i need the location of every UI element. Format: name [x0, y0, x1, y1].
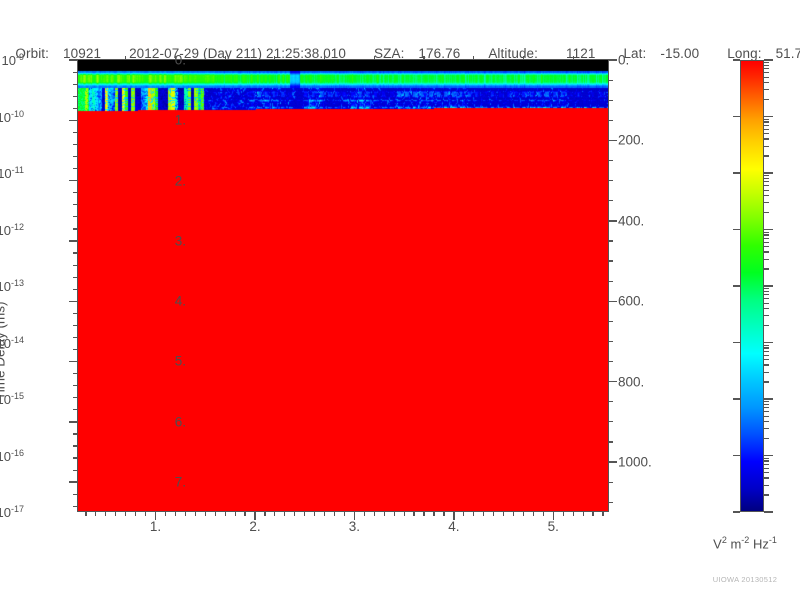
y-left-minor-tick	[73, 470, 78, 471]
x-minor-tick	[314, 511, 315, 516]
y-left-minor-tick	[73, 277, 78, 278]
x-top-minor-tick	[423, 56, 424, 60]
colorbar-major-tick-left	[733, 398, 740, 399]
colorbar-major-tick-left	[733, 172, 740, 173]
colorbar-major-tick-left	[733, 342, 740, 343]
x-minor-tick	[95, 511, 96, 516]
y-left-major-tick	[69, 59, 78, 60]
colorbar-major-tick	[764, 285, 773, 286]
y-left-minor-tick	[73, 265, 78, 266]
x-top-minor-tick	[274, 56, 275, 60]
x-minor-tick	[235, 511, 236, 516]
long-value: 51.77	[776, 46, 800, 61]
y-right-tick-label: 1000.	[618, 454, 652, 469]
x-minor-tick	[264, 511, 265, 516]
x-minor-tick	[225, 511, 226, 516]
colorbar-units-label: V2 m-2 Hz-1	[713, 535, 777, 551]
y-right-tick-label: 200.	[618, 133, 644, 148]
x-top-minor-tick	[324, 56, 325, 60]
datetime-value: 2012-07-29 (Day 211) 21:25:38.010	[129, 46, 346, 61]
colorbar-minor-tick	[764, 181, 769, 182]
colorbar-minor-tick	[764, 89, 769, 90]
sza-label: SZA:	[374, 46, 404, 61]
colorbar-tick-label: 10-12	[0, 221, 24, 237]
x-minor-tick	[483, 511, 484, 516]
colorbar-major-tick	[764, 342, 773, 343]
colorbar-minor-tick	[764, 416, 769, 417]
x-minor-tick	[344, 511, 345, 516]
y-left-minor-tick	[73, 409, 78, 410]
colorbar-minor-tick	[764, 308, 769, 309]
y-left-tick-label: 6.	[175, 414, 186, 429]
x-minor-tick	[563, 511, 564, 516]
colorbar-minor-tick	[764, 125, 769, 126]
colorbar-minor-tick	[764, 364, 769, 365]
y-left-minor-tick	[73, 337, 78, 338]
y-right-tick-label: 800.	[618, 374, 644, 389]
colorbar-minor-tick	[764, 472, 769, 473]
y-right-minor-tick	[608, 160, 613, 161]
colorbar-minor-tick	[764, 294, 769, 295]
y-right-minor-tick	[608, 401, 613, 402]
colorbar-tick-label: 10-10	[0, 108, 24, 124]
x-minor-tick	[115, 511, 116, 516]
colorbar-minor-tick	[764, 212, 769, 213]
spectrogram-plot-area	[78, 60, 608, 511]
colorbar-minor-tick	[764, 155, 769, 156]
colorbar-major-tick	[764, 116, 773, 117]
x-minor-tick	[374, 511, 375, 516]
colorbar-minor-tick	[764, 178, 769, 179]
x-top-minor-tick	[573, 56, 574, 60]
y-left-major-tick	[69, 421, 78, 422]
x-minor-tick	[175, 511, 176, 516]
y-left-tick-label: 2.	[175, 173, 186, 188]
x-minor-tick	[284, 511, 285, 516]
x-minor-tick	[334, 511, 335, 516]
y-right-minor-tick	[608, 100, 613, 101]
colorbar-minor-tick	[764, 238, 769, 239]
x-minor-tick	[244, 511, 245, 516]
y-right-minor-tick	[608, 321, 613, 322]
colorbar-minor-tick	[764, 421, 769, 422]
x-minor-tick	[443, 511, 444, 516]
x-top-minor-tick	[374, 56, 375, 60]
x-top-minor-tick	[523, 56, 524, 60]
colorbar-tick-label: 10-16	[0, 447, 24, 463]
colorbar-minor-tick	[764, 458, 769, 459]
colorbar-minor-tick	[764, 477, 769, 478]
colorbar-minor-tick	[764, 347, 769, 348]
y-left-minor-tick	[73, 397, 78, 398]
altitude-value: 1121	[566, 46, 595, 61]
y-left-minor-tick	[73, 373, 78, 374]
y-left-minor-tick	[73, 433, 78, 434]
lat-value: -15.00	[660, 46, 699, 61]
y-right-minor-tick	[608, 180, 613, 181]
x-tick-label: 3.	[349, 519, 360, 534]
x-minor-tick	[105, 511, 106, 516]
colorbar-major-tick-left	[733, 511, 740, 512]
y-left-minor-tick	[73, 204, 78, 205]
x-minor-tick	[85, 511, 86, 516]
units-m-exp: -2	[741, 535, 749, 545]
x-minor-tick	[543, 511, 544, 516]
y-left-tick-label: 4.	[175, 294, 186, 309]
y-left-minor-tick	[73, 457, 78, 458]
colorbar-minor-tick	[764, 411, 769, 412]
colorbar-major-tick-left	[733, 285, 740, 286]
y-left-tick-label: 7.	[175, 475, 186, 490]
colorbar-minor-tick	[764, 242, 769, 243]
colorbar-minor-tick	[764, 351, 769, 352]
altitude-label: Altitude:	[488, 46, 538, 61]
y-left-major-tick	[69, 481, 78, 482]
x-minor-tick	[394, 511, 395, 516]
x-axis-title: Frequency (MHz)	[0, 30, 400, 45]
x-minor-tick	[145, 511, 146, 516]
x-minor-tick	[503, 511, 504, 516]
y-right-minor-tick	[608, 502, 613, 503]
y-right-tick-label: 0.	[618, 53, 629, 68]
colorbar-minor-tick	[764, 232, 769, 233]
colorbar-minor-tick	[764, 68, 769, 69]
y-right-minor-tick	[608, 260, 613, 261]
colorbar-minor-tick	[764, 62, 769, 63]
x-tick-label: 1.	[150, 519, 161, 534]
x-minor-tick	[423, 511, 424, 516]
colorbar-tick-label: 10-13	[0, 278, 24, 294]
units-m: m	[730, 536, 741, 551]
colorbar-minor-tick	[764, 315, 769, 316]
colorbar-minor-tick	[764, 138, 769, 139]
y-right-minor-tick	[608, 421, 613, 422]
y-right-minor-tick	[608, 482, 613, 483]
x-minor-tick	[384, 511, 385, 516]
colorbar-minor-tick	[764, 428, 769, 429]
units-hz: Hz	[753, 536, 769, 551]
colorbar-minor-tick	[764, 494, 769, 495]
y-right-minor-tick	[608, 200, 613, 201]
ionogram-figure: Orbit:109212012-07-29 (Day 211) 21:25:38…	[0, 0, 800, 600]
y-left-minor-tick	[73, 108, 78, 109]
y-left-minor-tick	[73, 325, 78, 326]
y-left-minor-tick	[73, 156, 78, 157]
x-minor-tick	[404, 511, 405, 516]
x-minor-tick	[493, 511, 494, 516]
y-left-minor-tick	[73, 72, 78, 73]
y-right-minor-tick	[608, 80, 613, 81]
x-minor-tick	[364, 511, 365, 516]
x-minor-tick	[413, 511, 414, 516]
x-minor-tick	[463, 511, 464, 516]
y-left-tick-label: 5.	[175, 354, 186, 369]
x-minor-tick	[523, 511, 524, 516]
y-right-major-tick	[608, 59, 617, 60]
colorbar-minor-tick	[764, 82, 769, 83]
y-left-major-tick	[69, 120, 78, 121]
units-v: V	[713, 536, 722, 551]
y-right-major-tick	[608, 381, 617, 382]
colorbar-minor-tick	[764, 251, 769, 252]
colorbar-minor-tick	[764, 407, 769, 408]
colorbar-minor-tick	[764, 372, 769, 373]
x-minor-tick	[433, 511, 434, 516]
y-right-minor-tick	[608, 341, 613, 342]
y-right-minor-tick	[608, 120, 613, 121]
y-left-minor-tick	[73, 506, 78, 507]
colorbar-minor-tick	[764, 468, 769, 469]
colorbar-major-tick	[764, 511, 773, 512]
colorbar-minor-tick	[764, 345, 769, 346]
colorbar-minor-tick	[764, 359, 769, 360]
colorbar-tick-label: 10-14	[0, 334, 24, 350]
colorbar-minor-tick	[764, 485, 769, 486]
colorbar-minor-tick	[764, 121, 769, 122]
colorbar-minor-tick	[764, 325, 769, 326]
colorbar-minor-tick	[764, 291, 769, 292]
x-minor-tick	[294, 511, 295, 516]
x-minor-tick	[125, 511, 126, 516]
x-minor-tick	[195, 511, 196, 516]
colorbar-major-tick	[764, 398, 773, 399]
x-minor-tick	[602, 511, 603, 516]
y-left-minor-tick	[73, 216, 78, 217]
x-minor-tick	[185, 511, 186, 516]
x-minor-tick	[215, 511, 216, 516]
colorbar-major-tick-left	[733, 59, 740, 60]
x-minor-tick	[533, 511, 534, 516]
y-right-minor-tick	[608, 240, 613, 241]
colorbar-major-tick	[764, 172, 773, 173]
colorbar-minor-tick	[764, 381, 769, 382]
colorbar-minor-tick	[764, 438, 769, 439]
y-right-minor-tick	[608, 441, 613, 442]
colorbar-minor-tick	[764, 190, 769, 191]
x-minor-tick	[473, 511, 474, 516]
y-left-minor-tick	[73, 132, 78, 133]
units-hz-exp: -1	[769, 535, 777, 545]
sza-value: 176.76	[418, 46, 460, 61]
colorbar-minor-tick	[764, 404, 769, 405]
colorbar-minor-tick	[764, 288, 769, 289]
x-minor-tick	[513, 511, 514, 516]
y-right-major-tick	[608, 461, 617, 462]
colorbar-minor-tick	[764, 129, 769, 130]
colorbar-minor-tick	[764, 460, 769, 461]
colorbar-major-tick-left	[733, 455, 740, 456]
y-left-minor-tick	[73, 385, 78, 386]
y-left-minor-tick	[73, 349, 78, 350]
colorbar-major-tick	[764, 59, 773, 60]
y-left-minor-tick	[73, 96, 78, 97]
colorbar-minor-tick	[764, 146, 769, 147]
colorbar-tick-label: 10-15	[0, 391, 24, 407]
x-tick-label: 4.	[448, 519, 459, 534]
x-minor-tick	[573, 511, 574, 516]
colorbar-tick-label: 10-9	[2, 52, 24, 68]
x-minor-tick	[274, 511, 275, 516]
y-left-minor-tick	[73, 228, 78, 229]
units-v-exp: 2	[722, 535, 727, 545]
colorbar-tick-label: 10-11	[0, 165, 24, 181]
x-top-minor-tick	[225, 56, 226, 60]
colorbar-tick-label: 10-17	[0, 504, 24, 520]
x-tick-label: 2.	[249, 519, 260, 534]
colorbar-minor-tick	[764, 133, 769, 134]
colorbar-minor-tick	[764, 464, 769, 465]
y-right-minor-tick	[608, 361, 613, 362]
y-left-minor-tick	[73, 313, 78, 314]
colorbar-minor-tick	[764, 303, 769, 304]
y-left-minor-tick	[73, 84, 78, 85]
y-right-minor-tick	[608, 281, 613, 282]
colorbar-minor-tick	[764, 259, 769, 260]
y-left-minor-tick	[73, 445, 78, 446]
x-minor-tick	[304, 511, 305, 516]
y-left-major-tick	[69, 361, 78, 362]
colorbar-minor-tick	[764, 185, 769, 186]
colorbar-major-tick-left	[733, 229, 740, 230]
colorbar-minor-tick	[764, 234, 769, 235]
colorbar-major-tick-left	[733, 116, 740, 117]
watermark-credit: UIOWA 20130512	[713, 575, 777, 584]
colorbar-major-tick	[764, 229, 773, 230]
colorbar-minor-tick	[764, 195, 769, 196]
y-left-minor-tick	[73, 192, 78, 193]
colorbar-minor-tick	[764, 77, 769, 78]
y-left-tick-label: 1.	[175, 113, 186, 128]
x-minor-tick	[135, 511, 136, 516]
y-left-minor-tick	[73, 289, 78, 290]
colorbar-minor-tick	[764, 401, 769, 402]
colorbar-minor-tick	[764, 99, 769, 100]
colorbar-minor-tick	[764, 72, 769, 73]
colorbar-minor-tick	[764, 202, 769, 203]
y-right-major-tick	[608, 220, 617, 221]
y-left-minor-tick	[73, 168, 78, 169]
y-left-minor-tick	[73, 252, 78, 253]
y-left-major-tick	[69, 180, 78, 181]
colorbar-minor-tick	[764, 119, 769, 120]
colorbar-minor-tick	[764, 298, 769, 299]
spectrogram-canvas	[78, 60, 608, 511]
y-right-major-tick	[608, 301, 617, 302]
y-left-major-tick	[69, 240, 78, 241]
y-left-tick-label: 3.	[175, 233, 186, 248]
y-right-major-tick	[608, 140, 617, 141]
x-minor-tick	[583, 511, 584, 516]
colorbar-minor-tick	[764, 268, 769, 269]
colorbar-minor-tick	[764, 175, 769, 176]
x-minor-tick	[592, 511, 593, 516]
x-minor-tick	[165, 511, 166, 516]
y-right-tick-label: 600.	[618, 294, 644, 309]
x-top-minor-tick	[175, 56, 176, 60]
x-top-minor-tick	[125, 56, 126, 60]
y-right-tick-label: 400.	[618, 213, 644, 228]
colorbar-minor-tick	[764, 246, 769, 247]
colorbar-major-tick	[764, 455, 773, 456]
x-tick-label: 5.	[548, 519, 559, 534]
y-left-minor-tick	[73, 144, 78, 145]
x-minor-tick	[205, 511, 206, 516]
colorbar-minor-tick	[764, 355, 769, 356]
y-left-tick-label: 0.	[175, 53, 186, 68]
x-minor-tick	[324, 511, 325, 516]
y-left-minor-tick	[73, 494, 78, 495]
colorbar-minor-tick	[764, 65, 769, 66]
y-left-major-tick	[69, 301, 78, 302]
x-top-minor-tick	[473, 56, 474, 60]
colorbar	[740, 60, 764, 512]
